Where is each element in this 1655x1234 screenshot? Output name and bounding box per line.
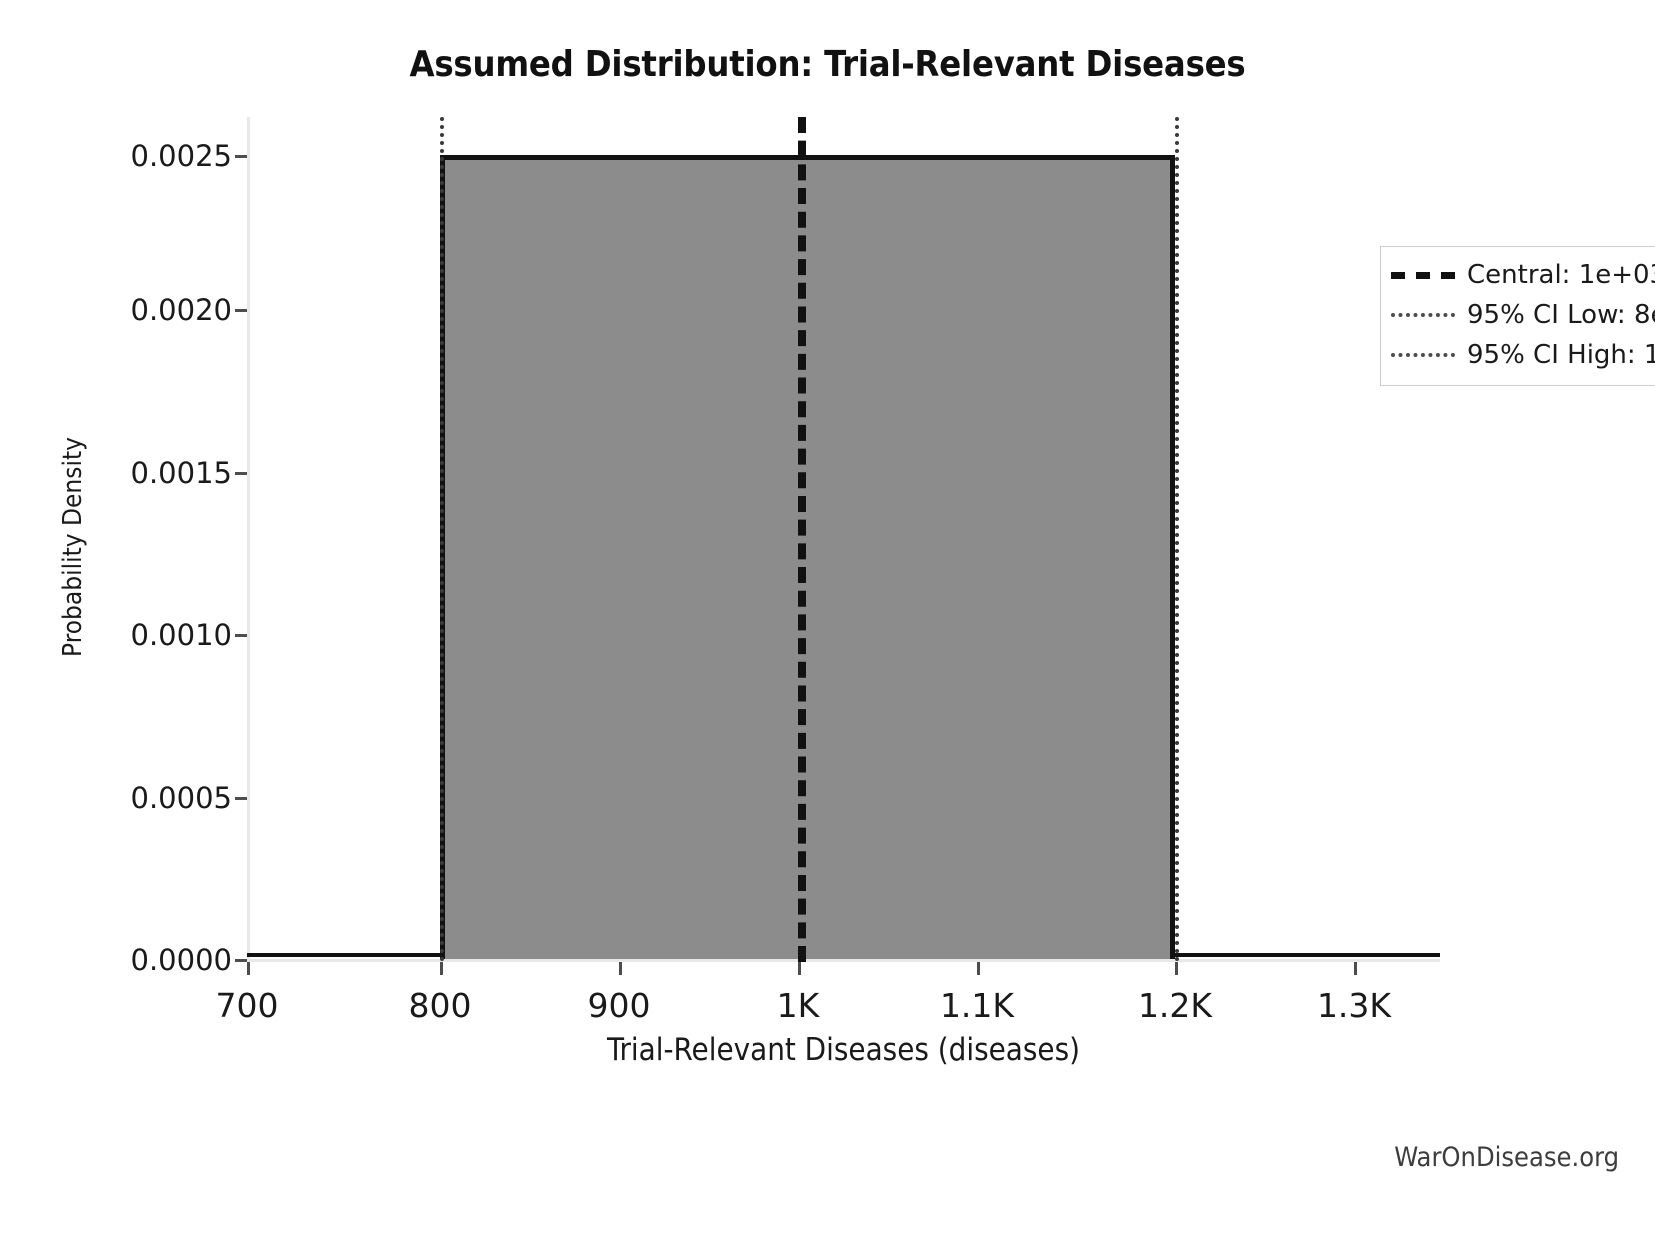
dotted-line-icon (1391, 353, 1455, 357)
dashed-line-icon (1391, 272, 1455, 279)
x-axis-title: Trial-Relevant Diseases (diseases) (247, 1032, 1440, 1068)
page-title: Assumed Distribution: Trial-Relevant Dis… (0, 44, 1655, 85)
attribution-footer: WarOnDisease.org (1394, 1142, 1619, 1173)
legend-item-central: Central: 1e+03 (1391, 255, 1655, 295)
x-tick-mark (1354, 962, 1357, 975)
distribution-area-fill (440, 155, 1175, 959)
legend-label: Central: 1e+03 (1467, 260, 1655, 290)
legend-item-ci-low: 95% CI Low: 8e+02 (1391, 295, 1655, 335)
y-axis-title: Probability Density (58, 267, 88, 827)
y-tick-mark (235, 155, 247, 158)
x-tick-mark (977, 962, 980, 975)
x-tick-label: 900 (588, 986, 651, 1025)
y-tick-label: 0.0005 (131, 781, 232, 815)
x-tick-mark (798, 962, 801, 975)
legend-item-ci-high: 95% CI High: 1.2e+03 (1391, 335, 1655, 375)
x-tick-label: 700 (216, 986, 279, 1025)
x-tick-label: 1.3K (1317, 986, 1391, 1025)
x-tick-label: 1.2K (1138, 986, 1212, 1025)
y-tick-mark (235, 634, 247, 637)
chart-figure: Assumed Distribution: Trial-Relevant Dis… (0, 0, 1655, 1234)
y-tick-label: 0.0025 (131, 139, 232, 173)
density-baseline-left (247, 953, 443, 957)
x-tick-label: 800 (409, 986, 472, 1025)
y-tick-label: 0.0015 (131, 456, 232, 490)
x-axis-spine (247, 959, 1440, 962)
x-tick-label: 1.1K (940, 986, 1014, 1025)
legend: Central: 1e+03 95% CI Low: 8e+02 95% CI … (1380, 246, 1655, 386)
dotted-line-icon (1391, 313, 1455, 317)
ci-low-marker-line (440, 117, 444, 962)
y-axis-spine (247, 117, 250, 962)
x-tick-label: 1K (777, 986, 820, 1025)
y-tick-label: 0.0010 (131, 618, 232, 652)
y-tick-mark (235, 472, 247, 475)
legend-label: 95% CI High: 1.2e+03 (1467, 340, 1655, 370)
y-tick-mark (235, 797, 247, 800)
legend-label: 95% CI Low: 8e+02 (1467, 300, 1655, 330)
y-tick-mark (235, 309, 247, 312)
x-tick-mark (1175, 962, 1178, 975)
y-tick-mark (235, 959, 247, 962)
central-marker-line (798, 117, 806, 962)
x-tick-mark (440, 962, 443, 975)
density-baseline-right (1172, 953, 1440, 957)
y-tick-label: 0.0000 (131, 943, 232, 977)
y-tick-label: 0.0020 (131, 293, 232, 327)
x-tick-mark (247, 962, 250, 975)
plot-area: 700 800 900 1K 1.1K 1.2K 1.3K Central: 1… (247, 117, 1440, 962)
ci-high-marker-line (1175, 117, 1179, 962)
x-tick-mark (619, 962, 622, 975)
